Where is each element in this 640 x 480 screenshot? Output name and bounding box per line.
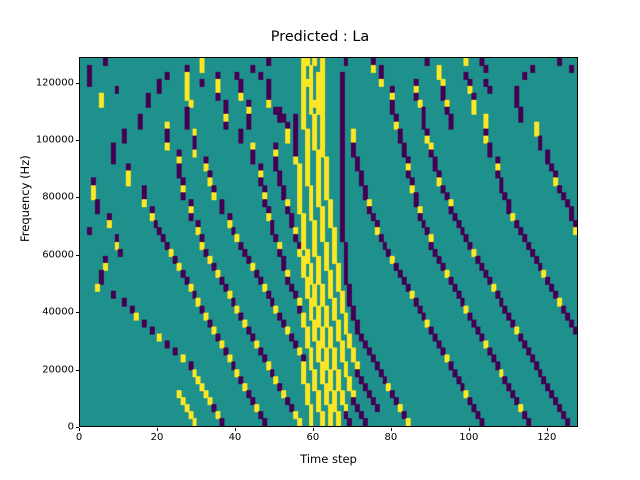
- y-tick-label: 100000: [36, 134, 74, 145]
- y-tick-mark: [76, 255, 80, 256]
- x-tick-mark: [157, 428, 158, 432]
- y-tick-mark: [76, 140, 80, 141]
- matplotlib-figure: Predicted : La Time step Frequency (Hz) …: [0, 0, 640, 480]
- x-axis-label: Time step: [79, 452, 578, 466]
- x-tick-mark: [391, 428, 392, 432]
- y-tick-label: 60000: [42, 249, 74, 260]
- x-tick-label: 0: [76, 432, 82, 443]
- x-tick-mark: [79, 428, 80, 432]
- y-tick-mark: [76, 370, 80, 371]
- x-tick-label: 40: [229, 432, 242, 443]
- y-tick-mark: [76, 83, 80, 84]
- x-tick-label: 120: [537, 432, 556, 443]
- x-tick-label: 100: [459, 432, 478, 443]
- x-tick-label: 80: [385, 432, 398, 443]
- y-tick-mark: [76, 427, 80, 428]
- x-tick-label: 60: [307, 432, 320, 443]
- y-tick-label: 0: [68, 422, 74, 433]
- y-tick-label: 120000: [36, 77, 74, 88]
- y-tick-label: 40000: [42, 307, 74, 318]
- y-tick-label: 20000: [42, 364, 74, 375]
- x-tick-mark: [313, 428, 314, 432]
- y-tick-mark: [76, 197, 80, 198]
- y-tick-mark: [76, 312, 80, 313]
- x-tick-mark: [469, 428, 470, 432]
- y-tick-label: 80000: [42, 192, 74, 203]
- y-axis-label: Frequency (Hz): [18, 155, 32, 242]
- x-tick-mark: [547, 428, 548, 432]
- x-tick-label: 20: [151, 432, 164, 443]
- x-tick-mark: [235, 428, 236, 432]
- tick-label-layer: [0, 0, 640, 480]
